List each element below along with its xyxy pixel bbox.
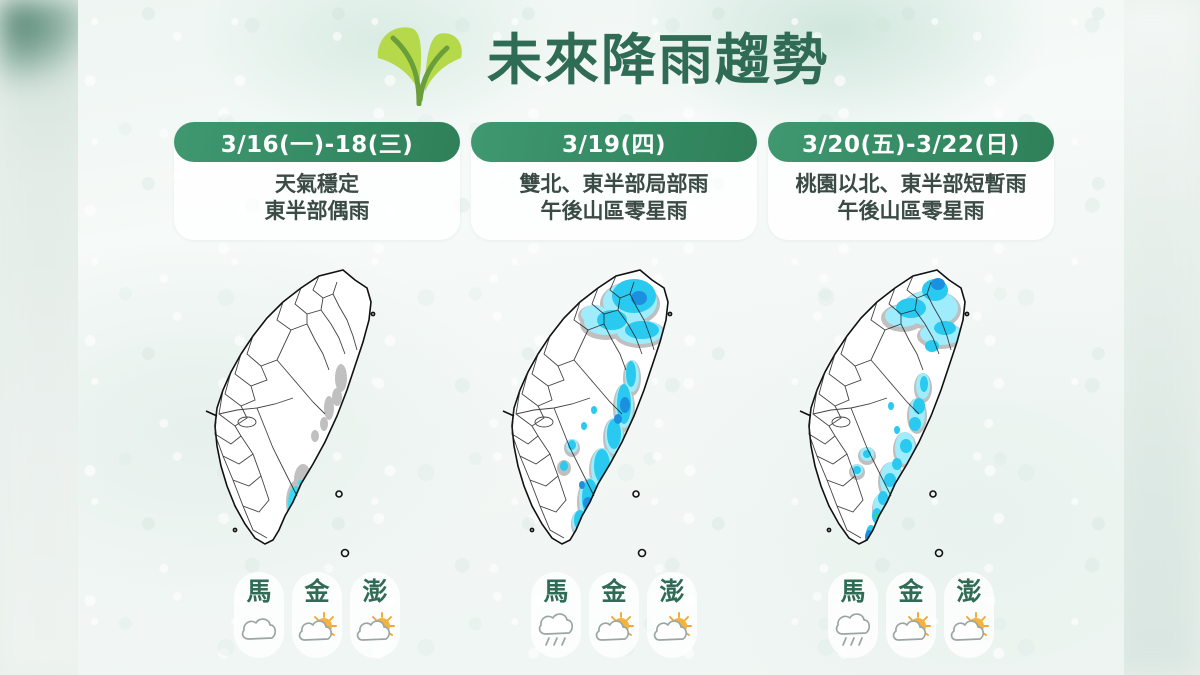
forecast-card-3[interactable]: 3/20(五)-3/22(日) 桃園以北、東半部短暫雨 午後山區零星雨 [768,122,1054,240]
island-label: 馬 [246,579,271,604]
partly-sunny-icon [890,609,932,649]
island-group-1: 馬 金 [174,572,460,658]
island-penghu-3[interactable]: 澎 [944,572,994,658]
island-label: 澎 [956,579,981,604]
forecast-panel-2: 3/19(四) 雙北、東半部局部雨 午後山區零星雨 [471,122,757,240]
date-pill-3: 3/20(五)-3/22(日) [768,122,1054,162]
forecast-description-3: 桃園以北、東半部短暫雨 午後山區零星雨 [768,162,1054,228]
desc-line: 東半部偶雨 [180,198,454,225]
forecast-description-1: 天氣穩定 東半部偶雨 [174,162,460,228]
forecast-panel-1: 3/16(一)-18(三) 天氣穩定 東半部偶雨 [174,122,460,240]
desc-line: 雙北、東半部局部雨 [477,171,751,198]
partly-sunny-icon [651,609,693,649]
taiwan-rainfall-map-1[interactable] [197,258,437,568]
header: 未來降雨趨勢 [78,8,1124,112]
desc-line: 午後山區零星雨 [774,198,1048,225]
partly-sunny-icon [948,609,990,649]
map-slot-2 [471,258,757,568]
cloudy-icon [238,609,280,649]
left-background-strip [0,0,90,675]
rainfall-maps [174,258,1054,568]
forecast-cards: 3/16(一)-18(三) 天氣穩定 東半部偶雨 3/19(四) 雙北、東半部局… [174,122,1054,240]
island-matsu-2[interactable]: 馬 [531,572,581,658]
map-slot-3 [768,258,1054,568]
island-label: 金 [304,579,329,604]
partly-sunny-icon [593,609,635,649]
island-matsu-3[interactable]: 馬 [828,572,878,658]
island-penghu-1[interactable]: 澎 [350,572,400,658]
rain-icon [832,609,874,649]
island-kinmen-3[interactable]: 金 [886,572,936,658]
island-label: 馬 [840,579,865,604]
rain-icon [535,609,577,649]
island-kinmen-2[interactable]: 金 [589,572,639,658]
island-forecasts: 馬 金 [174,572,1054,658]
forecast-card-1[interactable]: 3/16(一)-18(三) 天氣穩定 東半部偶雨 [174,122,460,240]
forecast-panel-3: 3/20(五)-3/22(日) 桃園以北、東半部短暫雨 午後山區零星雨 [768,122,1054,240]
island-label: 金 [601,579,626,604]
sprout-leaf-icon [373,14,469,106]
forecast-description-2: 雙北、東半部局部雨 午後山區零星雨 [471,162,757,228]
island-label: 金 [898,579,923,604]
partly-sunny-icon [296,609,338,649]
desc-line: 午後山區零星雨 [477,198,751,225]
island-matsu-1[interactable]: 馬 [234,572,284,658]
island-label: 馬 [543,579,568,604]
island-label: 澎 [659,579,684,604]
date-pill-2: 3/19(四) [471,122,757,162]
island-kinmen-1[interactable]: 金 [292,572,342,658]
island-group-2: 馬 金 [471,572,757,658]
page-title: 未來降雨趨勢 [487,33,829,88]
desc-line: 桃園以北、東半部短暫雨 [774,171,1048,198]
island-group-3: 馬 金 [768,572,1054,658]
date-pill-1: 3/16(一)-18(三) [174,122,460,162]
island-label: 澎 [362,579,387,604]
desc-line: 天氣穩定 [180,171,454,198]
taiwan-rainfall-map-3[interactable] [791,258,1031,568]
forecast-card-2[interactable]: 3/19(四) 雙北、東半部局部雨 午後山區零星雨 [471,122,757,240]
partly-sunny-icon [354,609,396,649]
island-penghu-2[interactable]: 澎 [647,572,697,658]
map-slot-1 [174,258,460,568]
infographic-canvas: 未來降雨趨勢 3/16(一)-18(三) 天氣穩定 東半部偶雨 3/19(四) … [78,0,1124,675]
taiwan-rainfall-map-2[interactable] [494,258,734,568]
